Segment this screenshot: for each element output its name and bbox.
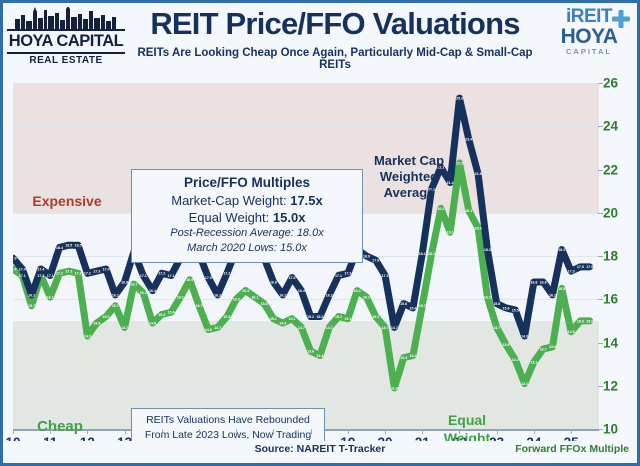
data-point-label: 14.7 <box>214 326 221 330</box>
data-point-label: 16.2 <box>326 293 333 297</box>
data-point-label: 14.7 <box>298 326 305 330</box>
data-point-label: 13.3 <box>400 356 407 360</box>
x-axis-tick <box>571 429 572 434</box>
data-point-label: 17.1 <box>382 274 389 278</box>
footer: Source: NAREIT T-Tracker Forward FFOx Mu… <box>3 441 637 463</box>
data-point-label: 17.2 <box>223 272 230 276</box>
data-point-label: 16.4 <box>242 289 249 293</box>
data-point-label: 25.3 <box>456 97 463 101</box>
ireit-hoya-logo: iREIT HOYA CAPITAL <box>545 7 633 65</box>
data-point-label: 17.2 <box>75 272 82 276</box>
data-point-label: 16.4 <box>298 289 305 293</box>
data-point-label: 17.0 <box>289 276 296 280</box>
chart-container: 17.417.115.717.116.117.217.317.214.314.9… <box>3 75 637 463</box>
data-point-label: 15.0 <box>586 319 593 323</box>
data-point-label: 15.2 <box>103 315 110 319</box>
data-point-label: 15.2 <box>307 315 314 319</box>
data-point-label: 16.2 <box>549 293 556 297</box>
y-axis-tick-label: 10 <box>603 422 618 437</box>
x-axis-tick <box>348 429 349 434</box>
data-point-label: 18.4 <box>56 246 63 250</box>
data-point-label: 11.9 <box>391 386 398 390</box>
x-axis-tick <box>497 429 498 434</box>
hoya-capital-tagline: REAL ESTATE <box>7 55 125 66</box>
data-point-label: 15.2 <box>316 315 323 319</box>
data-point-label: 18.1 <box>419 252 426 256</box>
data-point-label: 14.7 <box>326 326 333 330</box>
data-point-label: 14.7 <box>493 326 500 330</box>
data-point-label: 13.2 <box>512 358 519 362</box>
series-label-market-cap-line2: Weighted <box>363 169 455 185</box>
rebound-line-2: From Late 2023 Lows, Now Trading <box>135 428 321 443</box>
y-axis-tick-label: 14 <box>603 335 618 350</box>
ireit-logo-line2: HOYA <box>545 26 633 47</box>
multiples-row-marketcap: Market-Cap Weight: 17.5x <box>136 192 358 209</box>
x-axis-tick <box>13 429 14 434</box>
x-axis-tick <box>273 429 274 434</box>
x-axis-tick <box>311 429 312 434</box>
data-point-label: 13.9 <box>502 343 509 347</box>
data-point-label: 15.7 <box>112 304 119 308</box>
data-point-label: 16.7 <box>130 283 137 287</box>
y-axis-tick-label: 12 <box>603 378 618 393</box>
data-point-label: 17.1 <box>168 274 175 278</box>
data-point-label: 17.4 <box>13 267 17 271</box>
x-axis-tick <box>125 429 126 434</box>
data-point-label: 13.6 <box>307 350 314 354</box>
multiples-row-equal: Equal Weight: 15.0x <box>136 209 358 226</box>
data-point-label: 18.0 <box>363 254 370 258</box>
data-point-label: 18.3 <box>558 248 565 252</box>
data-point-label: 16.2 <box>112 293 119 297</box>
data-point-label: 17.0 <box>205 276 212 280</box>
data-point-label: 16.2 <box>279 293 286 297</box>
data-point-label: 14.7 <box>121 326 128 330</box>
page-title: REIT Price/FFO Valuations <box>125 6 545 42</box>
hoya-capital-name: HOYA CAPITAL <box>7 29 125 54</box>
data-point-label: 16.5 <box>558 287 565 291</box>
data-point-label: 14.5 <box>568 330 575 334</box>
data-point-label: 15.6 <box>409 306 416 310</box>
x-axis-tick <box>199 429 200 434</box>
multiples-row-marketcap-label: Market-Cap Weight: <box>171 193 286 208</box>
data-point-label: 18.5 <box>75 244 82 248</box>
data-point-label: 17.5 <box>577 265 584 269</box>
data-point-label: 17.1 <box>335 274 342 278</box>
data-point-label: 14.9 <box>279 321 286 325</box>
data-point-label: 17.4 <box>19 267 26 271</box>
chart-frame: HOYA CAPITAL REAL ESTATE REIT Price/FFO … <box>0 0 640 466</box>
x-axis-tick <box>385 429 386 434</box>
data-point-label: 17.2 <box>344 272 351 276</box>
data-point-label: 15.5 <box>512 308 519 312</box>
x-axis-tick <box>534 429 535 434</box>
y-axis-tick-label: 26 <box>603 76 618 91</box>
data-point-label: 15.1 <box>344 317 351 321</box>
page-subtitle: REITs Are Looking Cheap Once Again, Part… <box>125 47 545 71</box>
rebound-line-1: REITs Valuations Have Rebounded <box>135 413 321 428</box>
data-point-label: 13.1 <box>530 360 537 364</box>
data-point-label: 17.1 <box>140 274 147 278</box>
data-point-label: 20.2 <box>437 207 444 211</box>
data-point-label: 15.2 <box>335 315 342 319</box>
data-point-label: 18.3 <box>484 248 491 252</box>
y-axis-tick-label: 24 <box>603 119 618 134</box>
data-point-label: 16.1 <box>47 295 54 299</box>
data-point-label: 15.2 <box>372 315 379 319</box>
data-point-label: 12.1 <box>521 382 528 386</box>
y-axis-tick-label: 22 <box>603 162 618 177</box>
data-point-label: 16.1 <box>484 295 491 299</box>
data-point-label: 17.1 <box>37 274 44 278</box>
data-point-label: 16.1 <box>177 295 184 299</box>
data-point-label: 16.8 <box>270 280 277 284</box>
data-point-label: 15.1 <box>289 317 296 321</box>
data-point-label: 15.8 <box>493 302 500 306</box>
data-point-label: 17.3 <box>65 270 72 274</box>
multiples-row-equal-value: 15.0x <box>273 210 306 225</box>
y-axis-labels: 101214161820222426 <box>603 83 640 429</box>
header: HOYA CAPITAL REAL ESTATE REIT Price/FFO … <box>3 3 637 75</box>
data-point-label: 15.8 <box>261 302 268 306</box>
data-point-label: 13.4 <box>316 354 323 358</box>
data-point-label: 19.3 <box>475 226 482 230</box>
ireit-logo-line3: CAPITAL <box>545 47 633 56</box>
skyline-icon <box>13 7 117 29</box>
data-point-label: 16.2 <box>28 293 35 297</box>
data-point-label: 16.3 <box>140 291 147 295</box>
multiples-box-title: Price/FFO Multiples <box>136 175 358 190</box>
x-axis-tick <box>236 429 237 434</box>
data-point-label: 15.7 <box>196 304 203 308</box>
data-point-label: 17.1 <box>47 274 54 278</box>
data-point-label: 15.3 <box>158 313 165 317</box>
data-point-label: 16.4 <box>149 289 156 293</box>
hoya-capital-logo: HOYA CAPITAL REAL ESTATE <box>7 5 125 73</box>
series-label-market-cap: Market Cap Weighted Average <box>363 153 455 201</box>
data-point-label: 16.2 <box>214 293 221 297</box>
data-point-label: 18.5 <box>65 244 72 248</box>
multiples-note-postrecession: Post-Recession Average: 18.0x <box>136 226 358 241</box>
multiples-info-box: Price/FFO Multiples Market-Cap Weight: 1… <box>131 169 363 263</box>
data-point-label: 17.4 <box>103 267 110 271</box>
data-point-label: 13.7 <box>540 347 547 351</box>
data-point-label: 15.1 <box>270 317 277 321</box>
data-point-label: 20.1 <box>465 209 472 213</box>
data-point-label: 15.2 <box>223 315 230 319</box>
multiples-note-march2020: March 2020 Lows: 15.0x <box>136 241 358 256</box>
x-axis-tick <box>50 429 51 434</box>
data-point-label: 22.3 <box>456 161 463 165</box>
data-point-label: 17.2 <box>158 272 165 276</box>
data-point-label: 19.1 <box>447 231 454 235</box>
data-point-label: 14.9 <box>149 321 156 325</box>
data-point-label: 15.4 <box>168 311 175 315</box>
data-point-label: 16.4 <box>354 289 361 293</box>
data-point-label: 16.0 <box>233 298 240 302</box>
series-label-market-cap-line1: Market Cap <box>363 153 455 169</box>
data-point-label: 17.3 <box>568 270 575 274</box>
data-point-label: 15.7 <box>28 304 35 308</box>
x-axis-tick <box>422 429 423 434</box>
series-label-equal-weight-line1: Equal <box>427 411 507 429</box>
y-axis-tick-label: 20 <box>603 205 618 220</box>
x-axis-tick <box>162 429 163 434</box>
data-point-label: 14.3 <box>84 334 91 338</box>
series-label-market-cap-line3: Average <box>363 185 455 201</box>
data-point-label: 14.6 <box>205 328 212 332</box>
y-axis-tick-label: 16 <box>603 292 618 307</box>
data-point-label: 14.3 <box>521 334 528 338</box>
data-point-label: 17.2 <box>56 272 63 276</box>
data-point-label: 13.8 <box>549 345 556 349</box>
data-point-label: 15.6 <box>502 306 509 310</box>
data-point-label: 17.4 <box>37 267 44 271</box>
data-point-label: 18.1 <box>428 252 435 256</box>
multiples-row-marketcap-value: 17.5x <box>290 193 323 208</box>
data-point-label: 17.1 <box>19 274 26 278</box>
x-axis-tick <box>459 429 460 434</box>
data-point-label: 15.8 <box>400 302 407 306</box>
label-expensive: Expensive <box>15 193 119 209</box>
data-point-label: 15.0 <box>577 319 584 323</box>
data-point-label: 14.7 <box>382 326 389 330</box>
data-point-label: 16.8 <box>121 280 128 284</box>
data-point-label: 21.8 <box>475 172 482 176</box>
cross-icon <box>611 9 631 29</box>
data-point-label: 17.3 <box>93 270 100 274</box>
x-axis-tick <box>87 429 88 434</box>
data-point-label: 15.7 <box>419 304 426 308</box>
data-point-label: 14.7 <box>391 326 398 330</box>
multiples-row-equal-label: Equal Weight: <box>189 210 270 225</box>
data-point-label: 16.1 <box>251 295 258 299</box>
data-point-label: 16.8 <box>540 280 547 284</box>
data-point-label: 16.8 <box>530 280 537 284</box>
data-point-label: 16.1 <box>363 295 370 299</box>
data-point-label: 14.9 <box>93 321 100 325</box>
label-cheap: Cheap <box>15 418 105 435</box>
y-axis-tick-label: 18 <box>603 249 618 264</box>
data-point-label: 17.8 <box>372 259 379 263</box>
data-point-label: 17.5 <box>586 265 593 269</box>
x-axis-title: Forward FFOx Multiple <box>515 443 629 455</box>
data-point-label: 16.9 <box>186 278 193 282</box>
data-point-label: 23.4 <box>465 138 472 142</box>
data-point-label: 13.4 <box>409 354 416 358</box>
data-point-label: 17.9 <box>13 257 17 261</box>
data-point-label: 17.2 <box>84 272 91 276</box>
